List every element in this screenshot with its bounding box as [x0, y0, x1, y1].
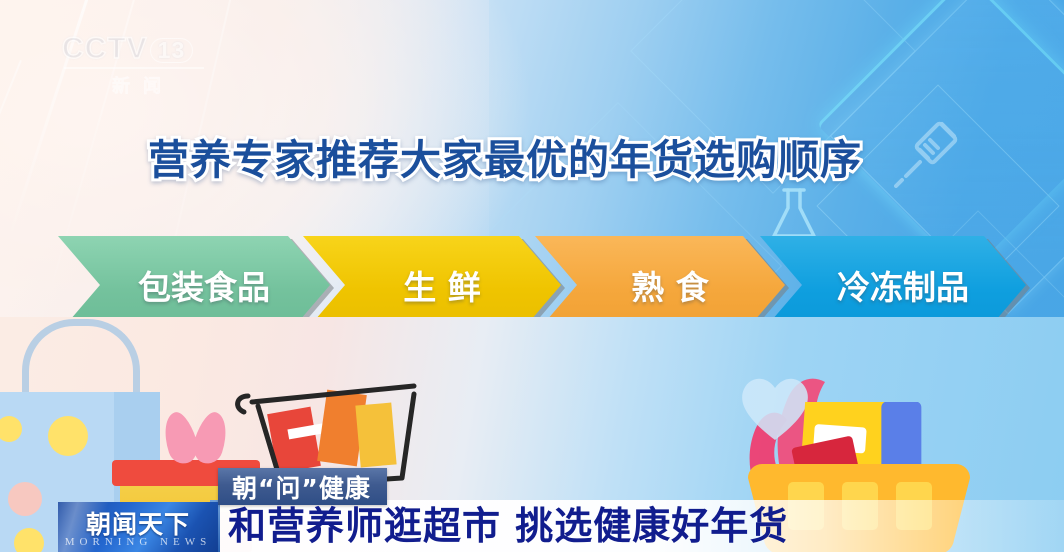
page-title: 营养专家推荐大家最优的年货选购顺序 [148, 126, 862, 186]
syringe-icon [892, 118, 972, 198]
watermark-subtitle: 新闻 [62, 72, 212, 98]
bag-dot [8, 482, 42, 516]
headline-text: 和营养师逛超市 挑选健康好年货 [228, 503, 788, 549]
watermark-channel-number: 13 [150, 38, 194, 63]
step-label: 冷冻制品 [817, 261, 969, 309]
step-label: 包装食品 [118, 261, 270, 309]
watermark-rule [64, 67, 204, 69]
program-name-en: MORNING NEWS [58, 536, 218, 548]
bag-handle [22, 319, 140, 402]
topic-tag: 朝“问”健康 [218, 468, 387, 505]
step-label: 熟 食 [611, 261, 709, 309]
topic-tag-label: 朝“问”健康 [232, 469, 371, 505]
step-label: 生 鲜 [383, 261, 481, 309]
cctv-watermark: CCTV13 新闻 [62, 34, 212, 96]
bag-dot [48, 416, 88, 456]
bag-dot [14, 528, 44, 552]
watermark-cctv-text: CCTV [62, 32, 148, 65]
broadcast-frame: CCTV13 新闻 营养专家推荐大家最优的年货选购顺序 包装食品 生 鲜 熟 食… [0, 0, 1064, 552]
program-logo: 朝闻天下 MORNING NEWS [58, 502, 218, 552]
